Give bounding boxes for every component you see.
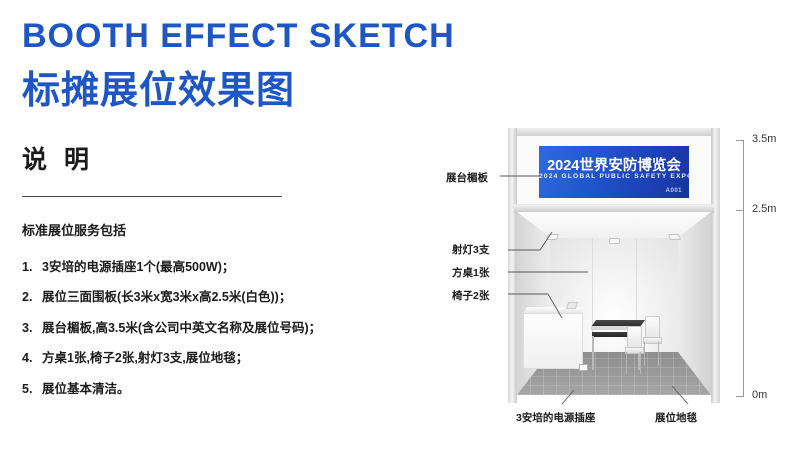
callout-label-fascia-board: 展台楣板 [446,170,488,185]
chair-backrest [627,326,642,349]
service-list: 1. 3安培的电源插座1个(最高500W)； 2. 展位三面围板(长3米x宽3米… [22,260,362,412]
spotlight-icon [546,234,559,240]
booth-frame-top [508,128,720,136]
list-item-text: 展位三面围板(长3米x宽3米x高2.5米(白色))； [42,290,362,304]
list-item-number: 3. [22,321,42,335]
list-item-number: 2. [22,290,42,304]
booth-sketch-page: BOOTH EFFECT SKETCH 标摊展位效果图 说 明 标准展位服务包括… [0,0,800,453]
list-item-number: 5. [22,382,42,396]
fascia-banner: 2024世界安防博览会 2024 GLOBAL PUBLIC SAFETY EX… [539,146,689,198]
ceiling-plane [517,212,711,238]
scale-label-bottom: 0m [752,389,767,401]
list-item-text: 展位基本清洁。 [42,382,362,396]
fascia-title-english: 2024 GLOBAL PUBLIC SAFETY EXPO [539,173,689,180]
booth-interior [517,212,711,395]
callout-label-power-socket: 3安培的电源插座 [516,410,595,425]
booth-frame-left-post [508,128,517,403]
booth-frame-right-post [711,128,720,403]
list-item-text: 展台楣板,高3.5米(含公司中英文名称及展位号码)； [42,321,362,335]
chair-backrest [645,316,660,339]
reception-counter [523,307,585,367]
height-scale-axis [743,140,744,396]
fascia-title-chinese: 2024世界安防博览会 [539,154,689,175]
callout-label-carpet: 展位地毯 [655,410,697,425]
callout-label-spotlights: 射灯3支 [452,242,489,257]
chair-leg [626,352,627,374]
table-leg [592,336,594,370]
power-socket [579,364,588,371]
list-item-number: 4. [22,351,42,365]
scale-tick-middle [736,210,744,211]
chair-leg [644,342,645,366]
list-item-text: 3安培的电源插座1个(最高500W)； [42,260,362,274]
scale-tick-bottom [736,396,744,397]
scale-label-top: 3.5m [752,133,776,145]
list-item: 3. 展台楣板,高3.5米(含公司中英文名称及展位号码)； [22,321,362,335]
list-item: 1. 3安培的电源插座1个(最高500W)； [22,260,362,274]
list-item: 2. 展位三面围板(长3米x宽3米x高2.5米(白色))； [22,290,362,304]
list-item-number: 1. [22,260,42,274]
list-item: 4. 方桌1张,椅子2张,射灯3支,展位地毯； [22,351,362,365]
section-heading-description: 说 明 [22,148,94,173]
callout-label-table: 方桌1张 [452,265,489,280]
scale-label-middle: 2.5m [752,203,776,215]
chair-leg [640,352,641,374]
scale-tick-top [736,140,744,141]
heading-divider [22,196,282,197]
list-item: 5. 展位基本清洁。 [22,382,362,396]
description-lead-text: 标准展位服务包括 [22,220,126,239]
page-title-english: BOOTH EFFECT SKETCH [22,19,455,53]
fascia-booth-number: A001 [666,188,682,194]
spotlight-icon [668,234,681,240]
booth-illustration: 2024世界安防博览会 2024 GLOBAL PUBLIC SAFETY EX… [508,128,720,403]
list-item-text: 方桌1张,椅子2张,射灯3支,展位地毯； [42,351,362,365]
page-title-chinese: 标摊展位效果图 [22,72,295,110]
chair-leg [658,342,659,366]
spotlight-icon [609,238,620,244]
callout-label-chairs: 椅子2张 [452,288,489,303]
counter-body [523,313,583,369]
